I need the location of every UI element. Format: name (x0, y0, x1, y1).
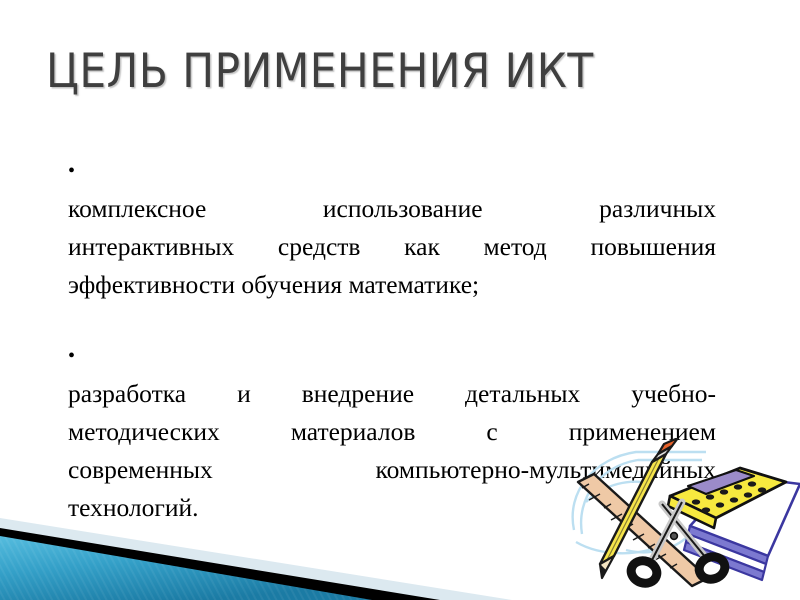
page-title: ЦЕЛЬ ПРИМЕНЕНИЯ ИКТ (46, 44, 766, 99)
teal-band-texture (0, 536, 372, 600)
bullet-1-line-1: комплексное использование различных (68, 190, 716, 228)
presentation-slide: ЦЕЛЬ ПРИМЕНЕНИЯ ИКТ комплексное использо… (0, 0, 800, 600)
teal-band (0, 536, 372, 600)
bullet-2-line-1: разработка и внедрение детальных учебно- (68, 375, 716, 413)
black-band (0, 528, 440, 600)
school-supplies-illustration (556, 438, 800, 590)
bullet-1-line-2: интерактивных средств как метод повышени… (68, 228, 716, 266)
bullet-1-line-3: эффективности обучения математике; (68, 266, 716, 304)
paragraph-spacer (68, 304, 716, 337)
pale-band (0, 518, 512, 600)
bullet-item-1: комплексное использование различных инте… (68, 152, 716, 304)
